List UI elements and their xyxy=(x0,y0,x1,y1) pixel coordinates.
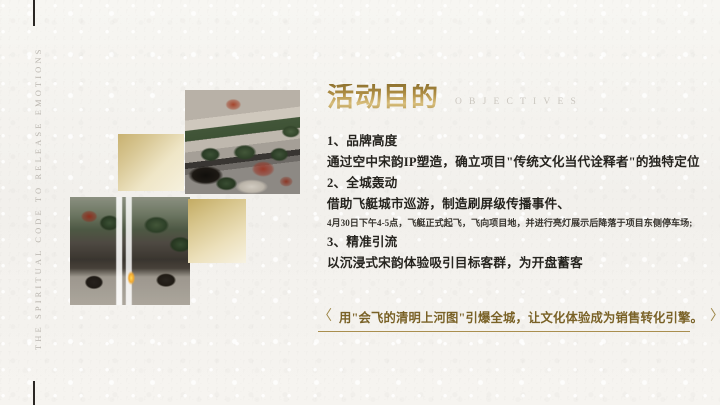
section-heading: 活动目的 OBJECTIVES xyxy=(327,84,583,111)
page-title: 活动目的 xyxy=(327,84,439,111)
objective-line: 以沉浸式宋韵体验吸引目标客群，为开盘蓄客 xyxy=(327,253,699,274)
gold-swatch-top-left xyxy=(118,134,184,191)
slide-canvas: THE SPIRITUAL CODE TO RELEASE EMOTIONS 活… xyxy=(0,0,720,405)
objective-line: 3、精准引流 xyxy=(327,232,699,253)
photo-waterfall-firepit-lounge xyxy=(70,197,190,305)
objectives-list: 1、品牌高度 通过空中宋韵IP塑造，确立项目"传统文化当代诠释者"的独特定位 2… xyxy=(327,131,699,274)
content-column: 活动目的 OBJECTIVES 1、品牌高度 通过空中宋韵IP塑造，确立项目"传… xyxy=(327,0,707,405)
gold-swatch-bottom-right xyxy=(188,199,246,263)
photo-aerial-courtyard-garden-image xyxy=(185,90,300,194)
objective-detail-line: 4月30日下午4-5点，飞艇正式起飞，飞向项目地，并进行亮灯展示后降落于项目东侧… xyxy=(327,215,699,232)
objective-line: 2、全城轰动 xyxy=(327,173,699,194)
objective-line: 通过空中宋韵IP塑造，确立项目"传统文化当代诠释者"的独特定位 xyxy=(327,152,699,173)
photo-aerial-courtyard-garden xyxy=(185,90,300,194)
chevron-right-icon: 〉 xyxy=(710,310,720,324)
summary-banner-text: 用"会飞的清明上河图"引爆全城，让文化体验成为销售转化引擎。 xyxy=(339,308,703,326)
image-collage xyxy=(0,0,320,405)
chevron-left-icon: 〈 xyxy=(318,310,332,324)
photo-waterfall-firepit-lounge-image xyxy=(70,197,190,305)
summary-banner: 〈 用"会飞的清明上河图"引爆全城，让文化体验成为销售转化引擎。 〉 xyxy=(318,303,690,332)
objective-line: 1、品牌高度 xyxy=(327,131,699,152)
page-title-english: OBJECTIVES xyxy=(455,97,583,111)
objective-line: 借助飞艇城市巡游，制造刷屏级传播事件、 xyxy=(327,194,699,215)
